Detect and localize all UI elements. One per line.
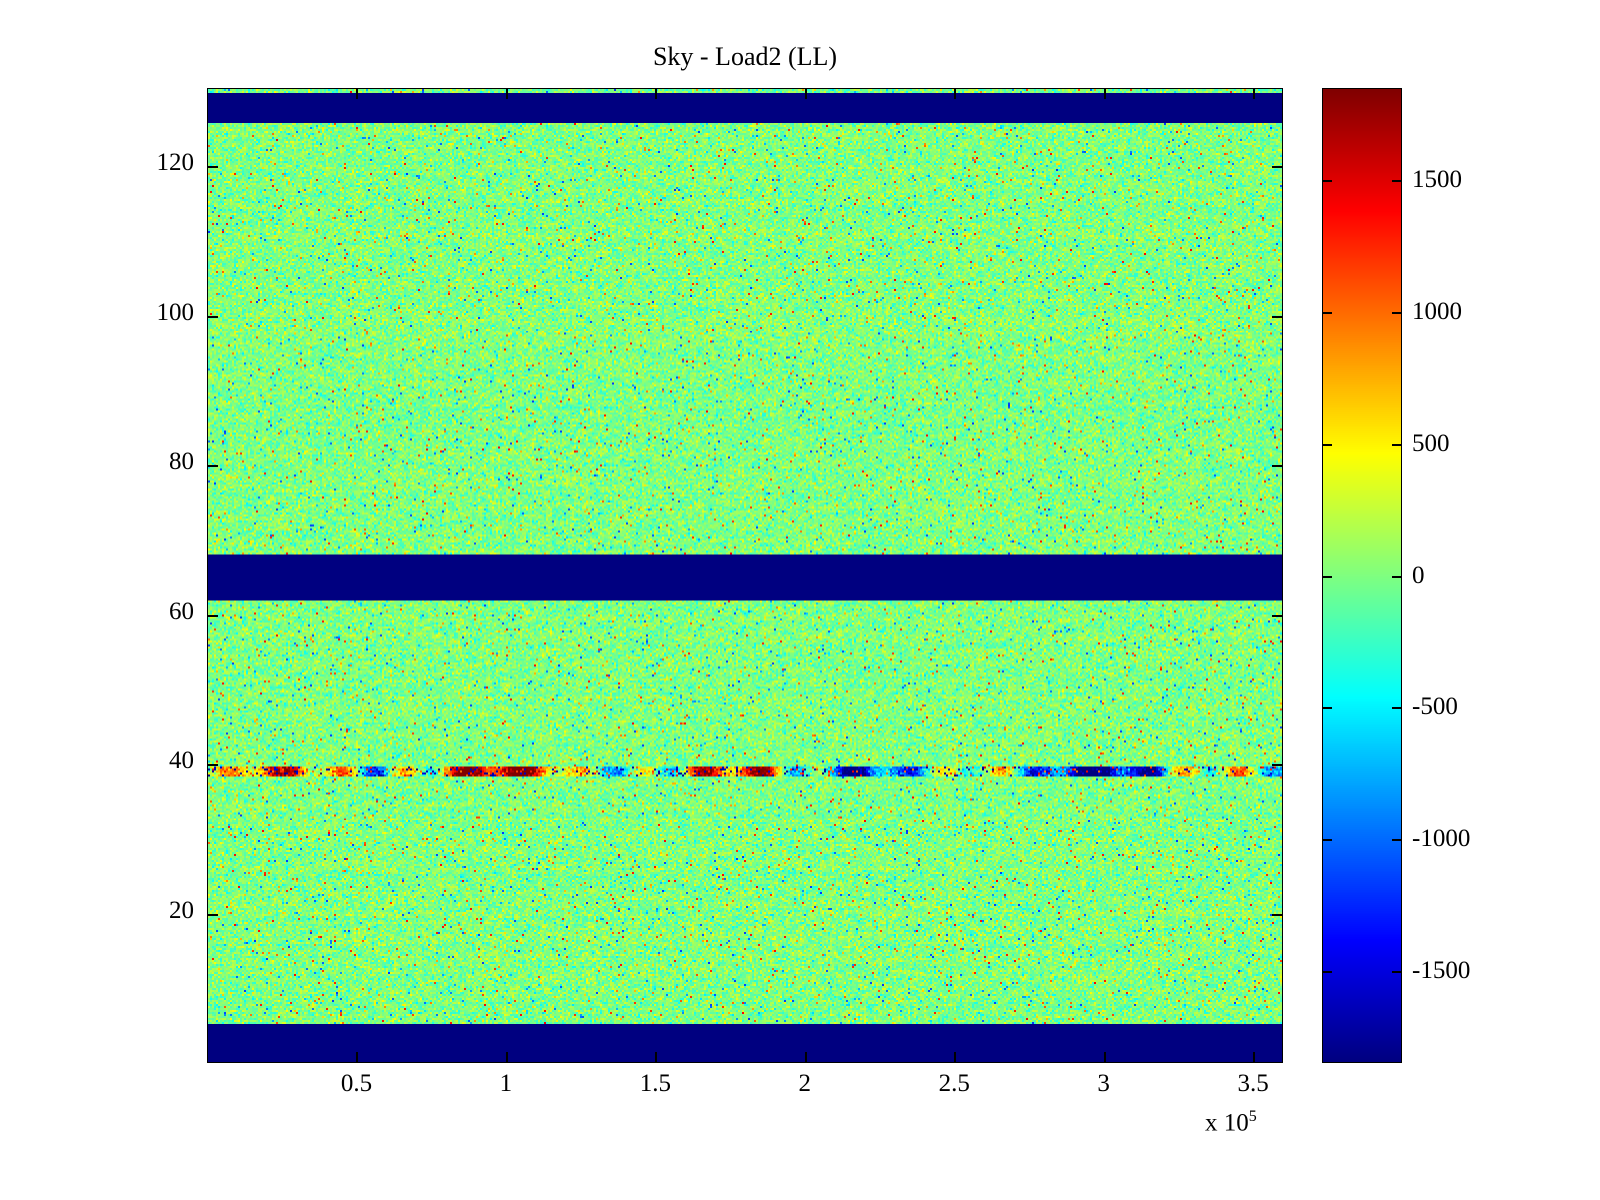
x-tick-mark-top [506, 88, 508, 99]
colorbar-gradient [1323, 89, 1401, 1062]
x-tick-mark-top [655, 88, 657, 99]
x-tick-label: 1.5 [595, 1070, 715, 1098]
colorbar[interactable] [1322, 88, 1402, 1063]
y-tick-mark [207, 316, 218, 318]
x-tick-mark [805, 1052, 807, 1063]
y-tick-mark [207, 615, 218, 617]
heatmap-axes[interactable] [207, 88, 1283, 1063]
y-tick-mark [207, 764, 218, 766]
colorbar-tick-mark-left [1322, 707, 1332, 709]
x-tick-mark-top [1104, 88, 1106, 99]
x-tick-mark [655, 1052, 657, 1063]
colorbar-tick-mark-right [1392, 707, 1402, 709]
x-tick-mark [506, 1052, 508, 1063]
colorbar-tick-mark-left [1322, 180, 1332, 182]
x-tick-mark [1104, 1052, 1106, 1063]
colorbar-tick-label: 1000 [1412, 298, 1462, 326]
x-tick-mark [1253, 1052, 1255, 1063]
colorbar-tick-label: 1500 [1412, 166, 1462, 194]
heatmap-image [208, 89, 1282, 1062]
y-tick-label: 40 [60, 747, 194, 775]
x-tick-label: 3.5 [1193, 1070, 1313, 1098]
x-tick-mark [356, 1052, 358, 1063]
x-tick-label: 1 [446, 1070, 566, 1098]
x-tick-mark-top [954, 88, 956, 99]
x-tick-mark [954, 1052, 956, 1063]
y-tick-label: 60 [60, 598, 194, 626]
y-tick-mark [207, 914, 218, 916]
x-tick-label: 0.5 [296, 1070, 416, 1098]
colorbar-tick-mark-left [1322, 839, 1332, 841]
colorbar-tick-mark-right [1392, 180, 1402, 182]
y-tick-label: 80 [60, 448, 194, 476]
y-tick-mark-right [1272, 465, 1283, 467]
x-tick-mark-top [356, 88, 358, 99]
x-tick-mark-top [805, 88, 807, 99]
y-tick-mark-right [1272, 615, 1283, 617]
y-tick-mark-right [1272, 914, 1283, 916]
colorbar-tick-mark-right [1392, 839, 1402, 841]
colorbar-tick-mark-left [1322, 444, 1332, 446]
x-axis-exponent-label: x 105 [1205, 1108, 1257, 1137]
colorbar-tick-label: 500 [1412, 430, 1450, 458]
colorbar-tick-mark-right [1392, 312, 1402, 314]
y-tick-label: 120 [60, 149, 194, 177]
y-tick-label: 20 [60, 897, 194, 925]
colorbar-tick-mark-right [1392, 971, 1402, 973]
x-tick-label: 2 [745, 1070, 865, 1098]
y-tick-mark [207, 465, 218, 467]
colorbar-tick-mark-left [1322, 576, 1332, 578]
page-title: Sky - Load2 (LL) [207, 42, 1283, 72]
colorbar-tick-mark-right [1392, 576, 1402, 578]
colorbar-tick-label: -500 [1412, 693, 1458, 721]
x-tick-label: 3 [1044, 1070, 1164, 1098]
colorbar-tick-mark-left [1322, 971, 1332, 973]
colorbar-tick-label: -1500 [1412, 957, 1470, 985]
y-tick-mark [207, 166, 218, 168]
colorbar-tick-label: -1000 [1412, 825, 1470, 853]
colorbar-tick-mark-left [1322, 312, 1332, 314]
x-exponent-base: x 10 [1205, 1109, 1249, 1136]
y-tick-label: 100 [60, 299, 194, 327]
matlab-figure: Sky - Load2 (LL) 20406080100120 0.511.52… [0, 0, 1600, 1200]
x-exponent-power: 5 [1249, 1108, 1257, 1125]
x-tick-label: 2.5 [894, 1070, 1014, 1098]
colorbar-tick-mark-right [1392, 444, 1402, 446]
y-tick-mark-right [1272, 316, 1283, 318]
colorbar-tick-label: 0 [1412, 562, 1425, 590]
y-tick-mark-right [1272, 166, 1283, 168]
y-tick-mark-right [1272, 764, 1283, 766]
x-tick-mark-top [1253, 88, 1255, 99]
